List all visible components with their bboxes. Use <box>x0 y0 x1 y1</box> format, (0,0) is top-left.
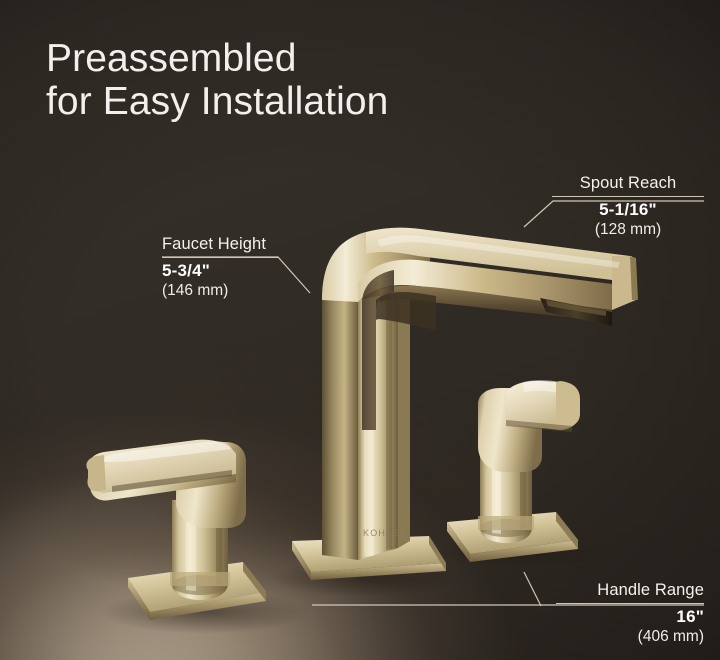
callout-rule <box>552 196 704 197</box>
callout-faucet-height: Faucet Height 5-3/4" (146 mm) <box>162 235 278 300</box>
headline-line-1: Preassembled <box>46 37 297 80</box>
callout-spout-reach: Spout Reach 5-1/16" (128 mm) <box>552 174 704 239</box>
callout-value: 16" <box>556 606 704 627</box>
kohler-brand-mark: KOHLER <box>363 528 407 538</box>
callout-metric: (128 mm) <box>552 220 704 239</box>
callout-metric: (406 mm) <box>556 627 704 646</box>
headline-line-2: for Easy Installation <box>46 80 388 123</box>
callout-title: Handle Range <box>556 581 704 600</box>
headline: Preassembled for Easy Installation <box>46 37 388 123</box>
handle-right <box>447 380 580 562</box>
callout-value: 5-1/16" <box>552 199 704 220</box>
callout-title: Spout Reach <box>552 174 704 193</box>
callout-handle-range: Handle Range 16" (406 mm) <box>556 581 704 646</box>
callout-metric: (146 mm) <box>162 281 278 300</box>
product-image-canvas: KOHLER <box>0 0 720 660</box>
callout-rule <box>162 257 278 258</box>
callout-title: Faucet Height <box>162 235 278 254</box>
callout-value: 5-3/4" <box>162 260 278 281</box>
callout-rule <box>556 603 704 604</box>
handle-left <box>86 440 266 620</box>
